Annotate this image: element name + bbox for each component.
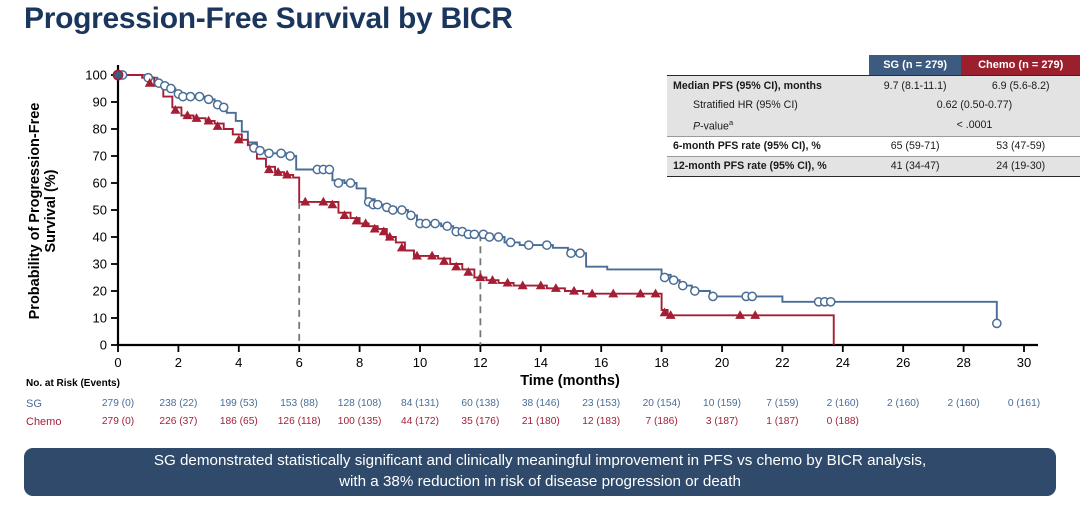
x-axis-tick-label: 8 — [356, 355, 363, 370]
censor-marker-circle — [407, 211, 415, 219]
censor-marker-circle — [679, 282, 687, 290]
censor-marker-circle — [709, 292, 717, 300]
y-axis-tick-label: 40 — [93, 230, 107, 245]
risk-cell: 7 (159) — [766, 398, 798, 409]
risk-cell: 1 (187) — [766, 416, 798, 427]
y-axis-tick-label: 30 — [93, 257, 107, 272]
x-axis-tick-label: 16 — [594, 355, 608, 370]
summary-table-row: Median PFS (95% CI), months9.7 (8.1-11.1… — [667, 76, 1080, 96]
risk-cell: 100 (135) — [338, 416, 382, 427]
x-axis-tick-label: 24 — [836, 355, 850, 370]
censor-marker-circle — [470, 230, 478, 238]
censor-marker-circle — [346, 179, 354, 187]
risk-cell: 0 (188) — [827, 416, 859, 427]
summary-table-head: SG (n = 279) Chemo (n = 279) — [667, 55, 1080, 76]
risk-cell: 60 (138) — [461, 398, 499, 409]
y-axis-tick-label: 100 — [85, 68, 107, 83]
summary-row-sg-value: 41 (34-47) — [869, 156, 962, 176]
censor-marker-circle — [195, 93, 203, 101]
risk-cell: 126 (118) — [278, 416, 321, 427]
censor-marker-circle — [256, 147, 264, 155]
censor-marker-circle — [277, 149, 285, 157]
censor-marker-circle — [691, 287, 699, 295]
risk-row-label-chemo: Chemo — [26, 416, 61, 428]
censor-marker-circle — [374, 201, 382, 209]
censor-marker-circle — [334, 179, 342, 187]
censor-marker-circle — [443, 222, 451, 230]
y-axis-tick-label: 90 — [93, 95, 107, 110]
y-axis-tick-label: 70 — [93, 149, 107, 164]
risk-cell: 2 (160) — [947, 398, 979, 409]
risk-cell: 3 (187) — [706, 416, 738, 427]
risk-cell: 38 (146) — [522, 398, 560, 409]
y-axis-tick-label: 80 — [93, 122, 107, 137]
censor-marker-circle — [422, 219, 430, 227]
risk-cell: 35 (176) — [461, 416, 499, 427]
summary-header-chemo: Chemo (n = 279) — [961, 55, 1080, 76]
summary-row-label: Stratified HR (95% CI) — [667, 95, 869, 114]
censor-marker-circle — [286, 152, 294, 160]
y-axis-tick-label: 10 — [93, 311, 107, 326]
summary-table-row: P-valuea< .0001 — [667, 114, 1080, 136]
x-axis-tick-label: 4 — [235, 355, 242, 370]
y-axis-tick-label: 60 — [93, 176, 107, 191]
summary-row-label: P-valuea — [667, 114, 869, 136]
risk-cell: 2 (160) — [827, 398, 859, 409]
risk-cell: 12 (183) — [582, 416, 620, 427]
risk-cell: 0 (161) — [1008, 398, 1040, 409]
risk-cell: 279 (0) — [102, 398, 134, 409]
x-axis-tick-label: 28 — [956, 355, 970, 370]
curve-origin-marker — [113, 70, 122, 79]
summary-row-sg-value: 65 (59-71) — [869, 136, 962, 156]
y-axis-tick-label: 50 — [93, 203, 107, 218]
summary-row-chemo-value: 24 (19-30) — [961, 156, 1080, 176]
censor-marker-circle — [186, 93, 194, 101]
x-axis-tick-label: 6 — [296, 355, 303, 370]
censor-marker-circle — [670, 276, 678, 284]
summary-table-row: 6-month PFS rate (95% CI), %65 (59-71)53… — [667, 136, 1080, 156]
censor-marker-circle — [507, 238, 515, 246]
conclusion-banner: SG demonstrated statistically significan… — [24, 448, 1056, 496]
number-at-risk-table: No. at Risk (Events) SG279 (0)238 (22)19… — [0, 378, 1080, 438]
summary-header-blank — [667, 55, 869, 76]
x-axis-tick-label: 26 — [896, 355, 910, 370]
censor-marker-circle — [431, 219, 439, 227]
risk-cell: 128 (108) — [338, 398, 382, 409]
summary-table-body: Median PFS (95% CI), months9.7 (8.1-11.1… — [667, 76, 1080, 177]
page-title: Progression-Free Survival by BICR — [24, 2, 513, 36]
risk-cell: 2 (160) — [887, 398, 919, 409]
summary-row-span-value: 0.62 (0.50-0.77) — [869, 95, 1080, 114]
x-axis-tick-label: 18 — [654, 355, 668, 370]
risk-cell: 44 (172) — [401, 416, 439, 427]
x-axis-tick-label: 12 — [473, 355, 487, 370]
risk-row-label-sg: SG — [26, 398, 42, 410]
risk-table-title: No. at Risk (Events) — [26, 378, 120, 389]
risk-cell: 238 (22) — [159, 398, 197, 409]
x-axis-tick-label: 22 — [775, 355, 789, 370]
summary-row-span-value: < .0001 — [869, 114, 1080, 136]
risk-cell: 199 (53) — [220, 398, 258, 409]
censor-marker-circle — [543, 241, 551, 249]
x-axis-tick-label: 14 — [534, 355, 548, 370]
censor-marker-circle — [661, 273, 669, 281]
risk-cell: 20 (154) — [643, 398, 681, 409]
censor-marker-circle — [494, 233, 502, 241]
censor-marker-circle — [389, 206, 397, 214]
censor-marker-circle — [167, 84, 175, 92]
censor-marker-circle — [525, 241, 533, 249]
x-axis-tick-label: 30 — [1017, 355, 1031, 370]
summary-row-chemo-value: 6.9 (5.6-8.2) — [961, 76, 1080, 96]
summary-row-label: Median PFS (95% CI), months — [667, 76, 869, 96]
summary-statistics-table: SG (n = 279) Chemo (n = 279) Median PFS … — [667, 55, 1080, 177]
censor-marker-circle — [398, 206, 406, 214]
censor-marker-circle — [220, 103, 228, 111]
risk-cell: 186 (65) — [220, 416, 258, 427]
censor-marker-circle — [748, 292, 756, 300]
summary-header-sg: SG (n = 279) — [869, 55, 962, 76]
risk-cell: 7 (186) — [645, 416, 677, 427]
summary-table-header-row: SG (n = 279) Chemo (n = 279) — [667, 55, 1080, 76]
risk-cell: 279 (0) — [102, 416, 134, 427]
x-axis-tick-label: 0 — [114, 355, 121, 370]
censor-marker-circle — [827, 298, 835, 306]
x-axis-tick-label: 10 — [413, 355, 427, 370]
risk-cell: 21 (180) — [522, 416, 560, 427]
x-axis-tick-label: 2 — [175, 355, 182, 370]
banner-line-2: with a 38% reduction in risk of disease … — [339, 473, 741, 490]
censor-marker-circle — [993, 319, 1001, 327]
summary-row-sg-value: 9.7 (8.1-11.1) — [869, 76, 962, 96]
censor-marker-circle — [567, 249, 575, 257]
y-axis-tick-label: 0 — [100, 338, 107, 353]
risk-cell: 226 (37) — [159, 416, 197, 427]
risk-cell: 153 (88) — [280, 398, 318, 409]
censor-marker-circle — [576, 249, 584, 257]
censor-marker-circle — [265, 149, 273, 157]
summary-row-label: 6-month PFS rate (95% CI), % — [667, 136, 869, 156]
x-axis-tick-label: 20 — [715, 355, 729, 370]
y-axis-tick-label: 20 — [93, 284, 107, 299]
summary-row-label: 12-month PFS rate (95% CI), % — [667, 156, 869, 176]
summary-row-chemo-value: 53 (47-59) — [961, 136, 1080, 156]
censor-marker-circle — [325, 165, 333, 173]
risk-cell: 10 (159) — [703, 398, 741, 409]
summary-table-row: Stratified HR (95% CI)0.62 (0.50-0.77) — [667, 95, 1080, 114]
summary-table-row: 12-month PFS rate (95% CI), %41 (34-47)2… — [667, 156, 1080, 176]
censor-marker-circle — [205, 95, 213, 103]
banner-line-1: SG demonstrated statistically significan… — [154, 452, 926, 469]
risk-cell: 23 (153) — [582, 398, 620, 409]
risk-cell: 84 (131) — [401, 398, 439, 409]
censor-marker-circle — [485, 233, 493, 241]
